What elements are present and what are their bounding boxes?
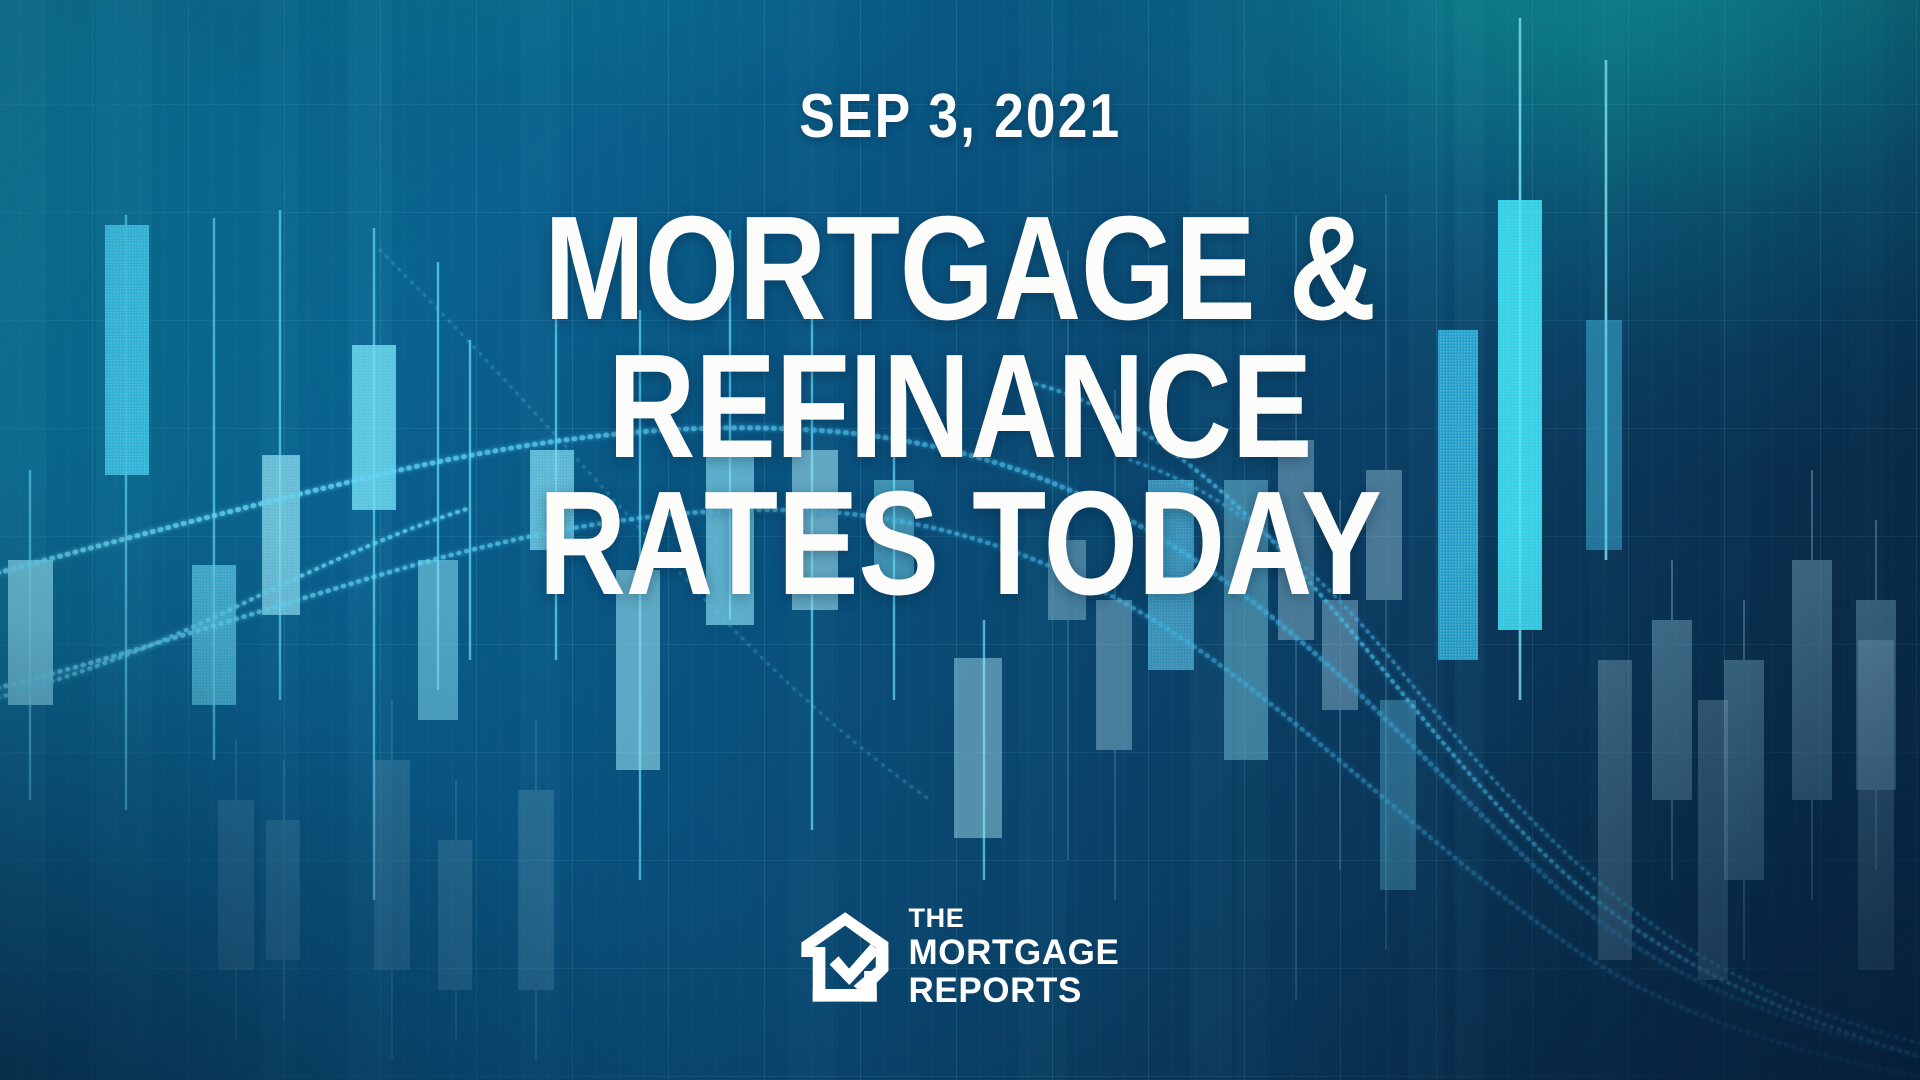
- banner-content: SEP 3, 2021 MORTGAGE & REFINANCE RATES T…: [0, 0, 1920, 1080]
- logo-line-reports: REPORTS: [909, 973, 1120, 1008]
- headline-line-3: RATES TODAY: [539, 475, 1382, 613]
- headline-line-1: MORTGAGE &: [539, 200, 1382, 338]
- date-label: SEP 3, 2021: [799, 86, 1121, 148]
- house-check-logo-icon: [801, 911, 889, 1003]
- brand-logo: THE MORTGAGE REPORTS: [801, 905, 1120, 1008]
- page-title: MORTGAGE & REFINANCE RATES TODAY: [446, 200, 1474, 613]
- headline-line-2: REFINANCE: [539, 338, 1382, 476]
- hero-banner: SEP 3, 2021 MORTGAGE & REFINANCE RATES T…: [0, 0, 1920, 1080]
- logo-line-the: THE: [909, 905, 1120, 932]
- brand-logo-wordmark: THE MORTGAGE REPORTS: [909, 905, 1120, 1008]
- logo-line-mortgage: MORTGAGE: [909, 935, 1120, 970]
